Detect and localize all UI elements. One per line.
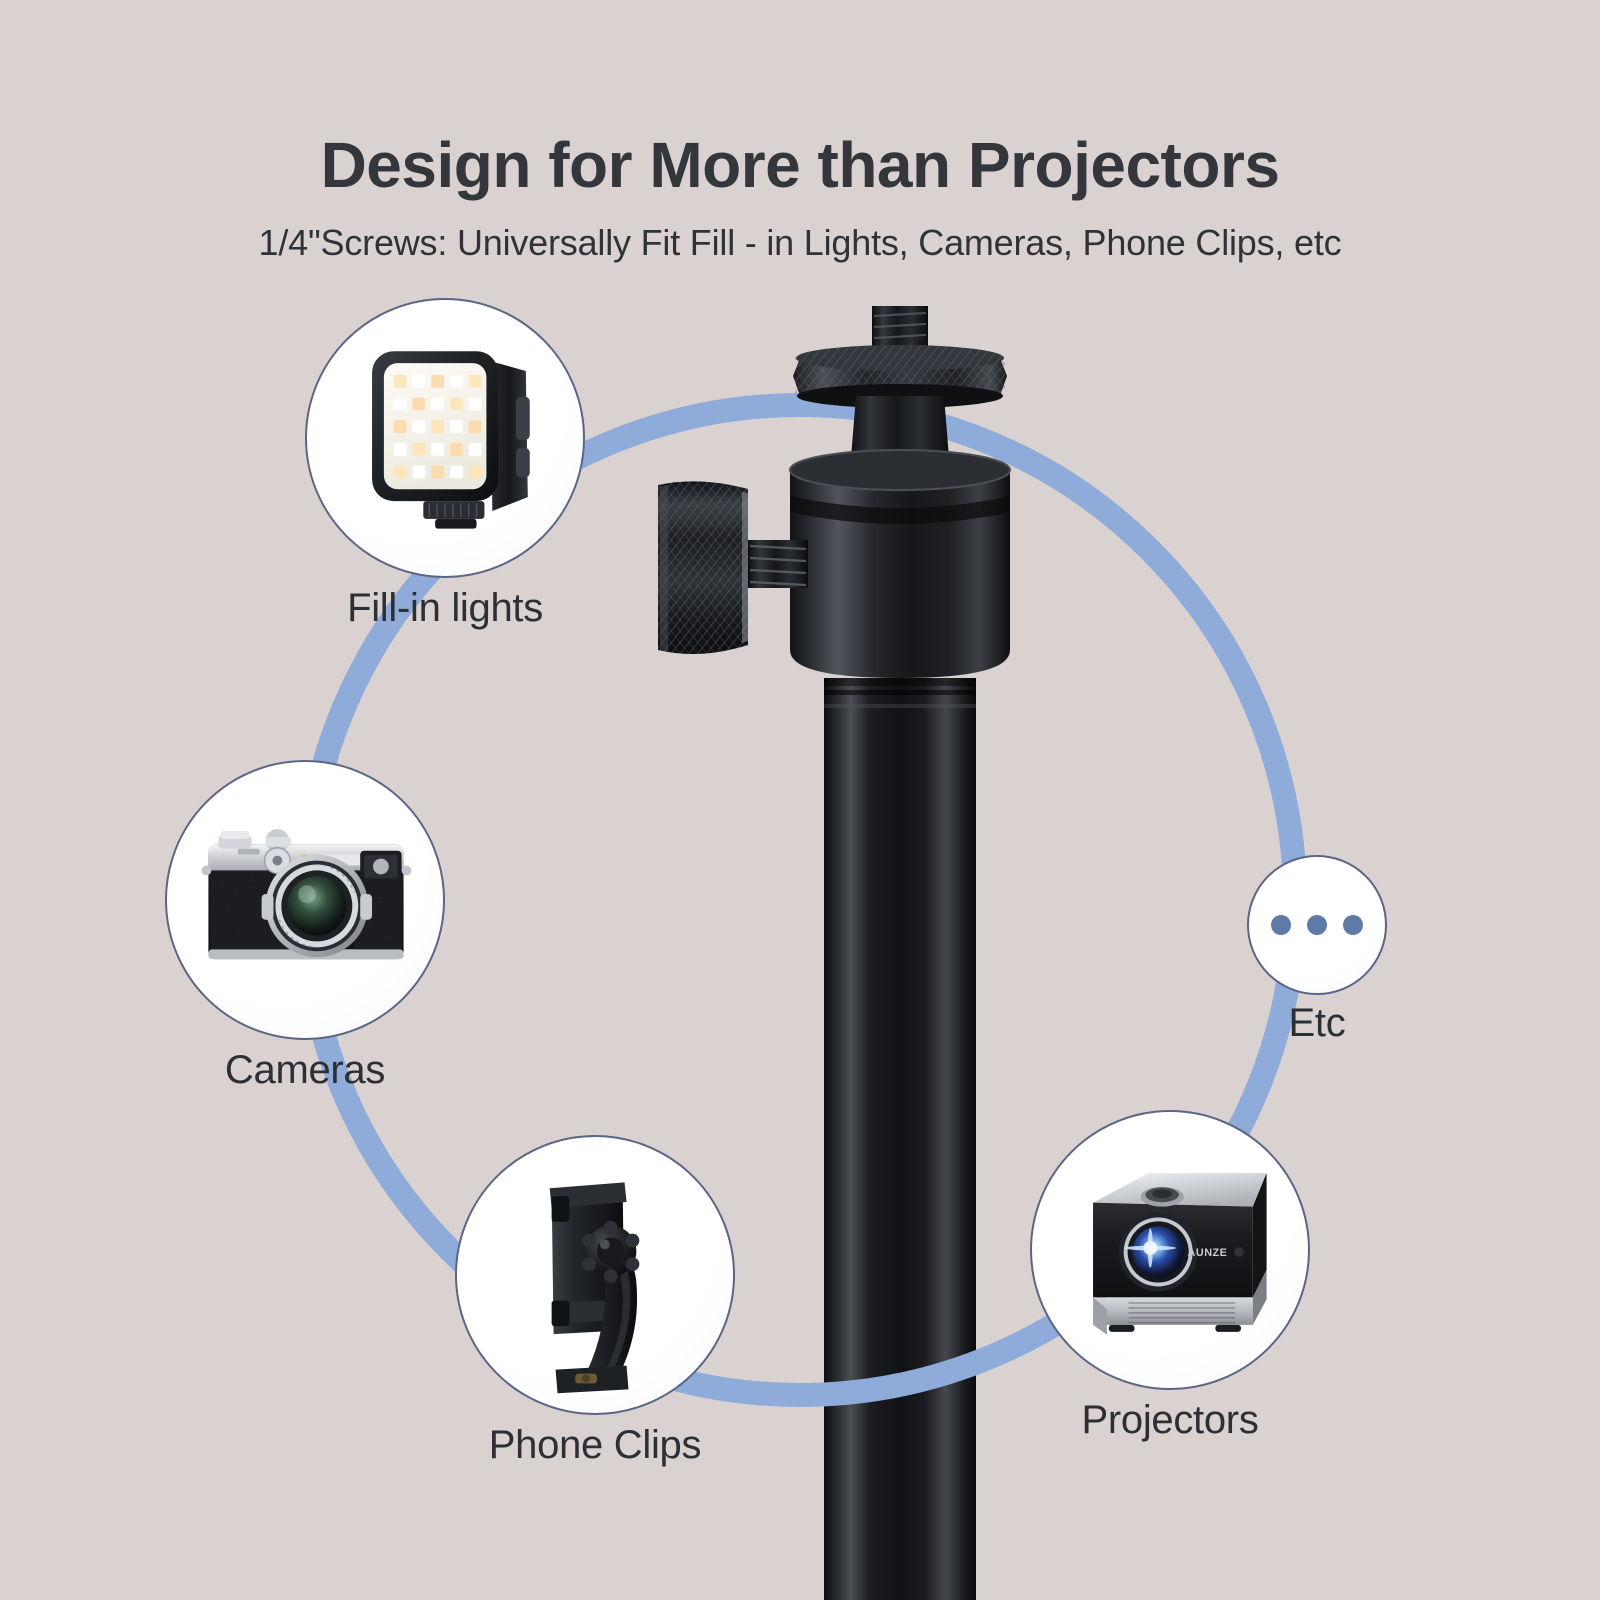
ball-head-body: [790, 450, 1010, 678]
node-fill-in-lights[interactable]: Fill-in lights: [305, 298, 585, 578]
node-etc[interactable]: Etc: [1247, 855, 1387, 995]
ball-head-stem: [850, 396, 950, 470]
node-label-etc: Etc: [1289, 1001, 1346, 1046]
page-title: Design for More than Projectors: [0, 128, 1600, 202]
node-label-fill-in-lights: Fill-in lights: [347, 586, 543, 631]
infographic-canvas: Design for More than Projectors 1/4"Scre…: [0, 0, 1600, 1600]
node-label-cameras: Cameras: [225, 1048, 385, 1093]
led-light-panel-icon: [307, 300, 583, 576]
node-label-phone-clips: Phone Clips: [489, 1423, 701, 1468]
projector-icon: AUNZE: [1032, 1112, 1308, 1388]
bubble-projectors: AUNZE: [1030, 1110, 1310, 1390]
node-cameras[interactable]: Cameras: [165, 760, 445, 1040]
camera-icon: [167, 762, 443, 1038]
side-locking-knob: [658, 481, 808, 654]
svg-text:AUNZE: AUNZE: [1188, 1247, 1228, 1259]
bubble-cameras: [165, 760, 445, 1040]
quarter-inch-screw-thread: [872, 306, 928, 362]
node-projectors[interactable]: AUNZE Projectors: [1030, 1110, 1310, 1390]
bubble-fill-in-lights: [305, 298, 585, 578]
phone-clip-icon: [457, 1137, 733, 1413]
extension-pole: [824, 678, 976, 1600]
node-label-projectors: Projectors: [1081, 1398, 1258, 1443]
knurled-lock-nut: [793, 345, 1007, 408]
bubble-phone-clips: [455, 1135, 735, 1415]
bubble-etc: [1247, 855, 1387, 995]
node-phone-clips[interactable]: Phone Clips: [455, 1135, 735, 1415]
page-subtitle: 1/4"Screws: Universally Fit Fill - in Li…: [0, 222, 1600, 264]
ellipsis-icon: [1271, 915, 1363, 935]
